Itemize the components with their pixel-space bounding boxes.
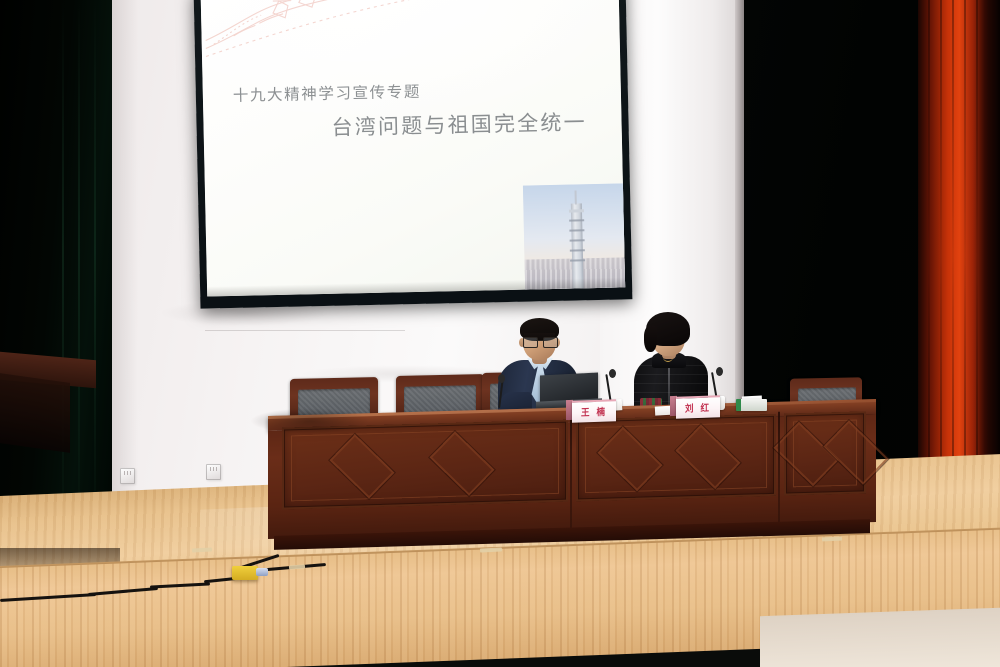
wall-socket-icon[interactable]: [206, 464, 221, 480]
nameplate-right: 刘 红: [676, 395, 720, 419]
projection-screen-surface: 十九大精神学习宣传专题 台湾问题与祖国完全统一: [201, 0, 625, 297]
stage-curtain-right: [918, 0, 992, 512]
table-shadow: [250, 408, 370, 434]
tissue-box[interactable]: [736, 399, 767, 411]
nameplate-left: 王 楠: [572, 399, 616, 423]
slide-heading: 十九大精神学习宣传专题: [233, 80, 422, 106]
wall-shading-left: [108, 0, 138, 520]
stage-curtain-right-edge: [988, 0, 1000, 520]
conference-hall-photo: 十九大精神学习宣传专题 台湾问题与祖国完全统一: [0, 0, 1000, 667]
wall-socket-icon[interactable]: [120, 468, 135, 484]
microphone-center-head: [609, 369, 616, 378]
presentation-slide: 十九大精神学习宣传专题 台湾问题与祖国完全统一: [201, 0, 625, 297]
eyeglasses-icon: [523, 337, 556, 346]
power-strip[interactable]: [232, 566, 258, 580]
speaker-right-hair-side: [644, 326, 657, 352]
left-furniture-body: [0, 373, 70, 453]
microphone-left-head: [498, 374, 505, 383]
stage-curtain-left: [0, 0, 112, 560]
great-wall-line-art-icon: [202, 0, 535, 65]
nameplate-right-text: 刘 红: [685, 401, 711, 416]
table-panel: [576, 414, 776, 502]
wall-scuff-line: [205, 330, 405, 331]
hall-floor: [760, 608, 1000, 667]
power-plug: [256, 568, 268, 576]
microphone-right-head: [716, 367, 723, 376]
table-seam: [570, 418, 572, 534]
projection-screen[interactable]: 十九大精神学习宣传专题 台湾问题与祖国完全统一: [194, 0, 633, 309]
taipei-101-tower-icon: [570, 203, 583, 289]
nameplate-left-text: 王 楠: [581, 405, 607, 420]
table-seam: [778, 412, 780, 528]
table-panel: [784, 411, 866, 495]
slide-subtitle: 台湾问题与祖国完全统一: [331, 106, 587, 142]
floor-debris: [822, 537, 842, 542]
